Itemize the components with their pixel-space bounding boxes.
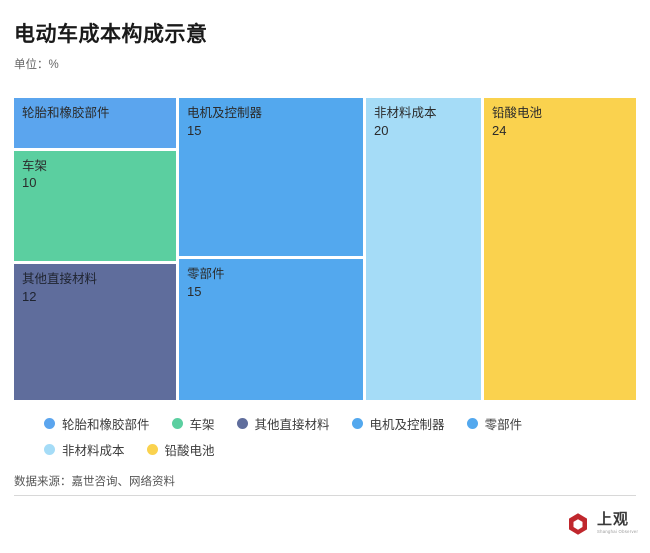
legend-color-dot xyxy=(44,444,55,455)
chart-unit-label: 单位：% xyxy=(14,59,650,73)
logo-text-group: 上观 Shanghai Observer xyxy=(597,513,638,534)
legend-item-label: 电机及控制器 xyxy=(370,414,445,433)
treemap-column-1: 轮胎和橡胶部件 车架 10 其他直接材料 12 xyxy=(14,98,176,400)
data-source-note: 数据来源：嘉世咨询、网络资料 xyxy=(14,473,175,489)
treemap-cell-value: 15 xyxy=(187,283,363,301)
page-title: 电动车成本构成示意 xyxy=(14,22,650,47)
legend-item-lead-acid-battery[interactable]: 铅酸电池 xyxy=(147,438,215,460)
treemap-cell-label: 铅酸电池 xyxy=(492,105,636,122)
treemap-cell-label: 其他直接材料 xyxy=(22,271,176,288)
brand-logo: 上观 Shanghai Observer xyxy=(566,512,638,536)
treemap-cell-label: 轮胎和橡胶部件 xyxy=(22,105,176,122)
legend-item-other-direct-materials[interactable]: 其他直接材料 xyxy=(237,412,330,434)
treemap-cell-non-material-cost[interactable]: 非材料成本 20 xyxy=(366,98,481,400)
legend-color-dot xyxy=(467,418,478,429)
treemap-cell-value: 20 xyxy=(374,122,481,140)
treemap-cell-value: 12 xyxy=(22,288,176,306)
legend-color-dot xyxy=(147,444,158,455)
treemap-column-2: 电机及控制器 15 零部件 15 xyxy=(179,98,363,400)
legend-color-dot xyxy=(237,418,248,429)
treemap-cell-label: 非材料成本 xyxy=(374,105,481,122)
legend-item-motor-and-controller[interactable]: 电机及控制器 xyxy=(352,412,445,434)
hexagon-ring-icon xyxy=(566,512,590,536)
treemap-cell-lead-acid-battery[interactable]: 铅酸电池 24 xyxy=(484,98,636,400)
treemap-cell-value: 24 xyxy=(492,122,636,140)
legend-color-dot xyxy=(44,418,55,429)
legend-item-label: 铅酸电池 xyxy=(165,440,215,459)
chart-legend: 轮胎和橡胶部件 车架 其他直接材料 电机及控制器 零部件 非材料成本 铅酸电池 xyxy=(44,412,634,460)
logo-chinese-name: 上观 xyxy=(597,513,638,529)
legend-item-label: 车架 xyxy=(190,414,215,433)
treemap-cell-other-direct-materials[interactable]: 其他直接材料 12 xyxy=(14,264,176,400)
treemap-cell-label: 零部件 xyxy=(187,266,363,283)
treemap-cell-tires-and-rubber[interactable]: 轮胎和橡胶部件 xyxy=(14,98,176,148)
legend-item-label: 轮胎和橡胶部件 xyxy=(62,414,150,433)
treemap-chart: 轮胎和橡胶部件 车架 10 其他直接材料 12 电机及控制器 15 零部件 15… xyxy=(14,98,636,400)
treemap-cell-label: 电机及控制器 xyxy=(187,105,363,122)
treemap-cell-value: 15 xyxy=(187,122,363,140)
legend-item-label: 非材料成本 xyxy=(62,440,125,459)
legend-item-label: 其他直接材料 xyxy=(255,414,330,433)
treemap-column-4: 铅酸电池 24 xyxy=(484,98,636,400)
treemap-cell-frame[interactable]: 车架 10 xyxy=(14,151,176,262)
legend-item-components[interactable]: 零部件 xyxy=(467,412,523,434)
legend-item-tires-and-rubber[interactable]: 轮胎和橡胶部件 xyxy=(44,412,150,434)
treemap-cell-components[interactable]: 零部件 15 xyxy=(179,259,363,400)
legend-color-dot xyxy=(172,418,183,429)
treemap-cell-label: 车架 xyxy=(22,158,176,175)
chart-header: 电动车成本构成示意 单位：% xyxy=(0,0,650,73)
legend-item-non-material-cost[interactable]: 非材料成本 xyxy=(44,438,125,460)
logo-english-name: Shanghai Observer xyxy=(597,530,638,535)
legend-item-label: 零部件 xyxy=(485,414,523,433)
footer-divider xyxy=(14,495,636,496)
legend-color-dot xyxy=(352,418,363,429)
legend-item-frame[interactable]: 车架 xyxy=(172,412,215,434)
treemap-column-3: 非材料成本 20 xyxy=(366,98,481,400)
treemap-cell-value: 10 xyxy=(22,174,176,192)
treemap-cell-motor-and-controller[interactable]: 电机及控制器 15 xyxy=(179,98,363,256)
